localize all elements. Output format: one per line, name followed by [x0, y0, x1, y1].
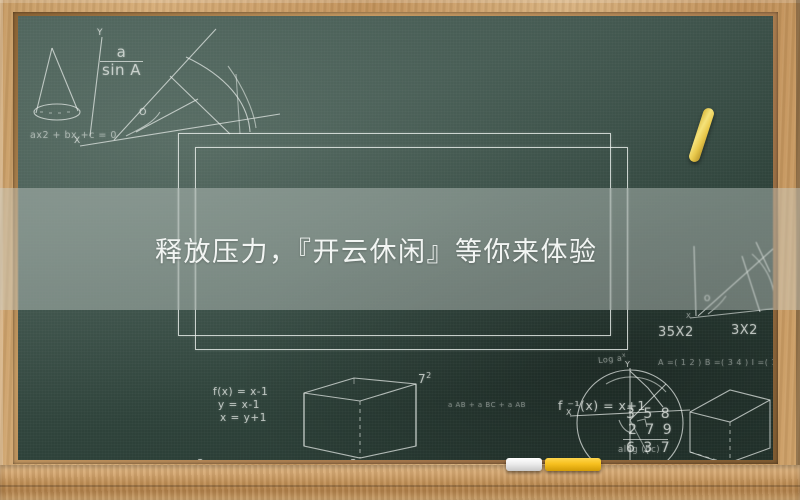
chalk-sum-row-2: 2 7 9: [628, 422, 674, 438]
page-title: 释放压力，『开云休闲』等你来体验: [0, 188, 800, 310]
chalk-label-y-axis-circle: Y: [625, 360, 630, 369]
chalk-sum-row-1: 3 5 8: [626, 406, 672, 422]
chalk-note-35x2: 35X2: [658, 326, 694, 341]
chalk-sum-row-3: 6 3 7: [626, 440, 672, 456]
chalk-note-fx-line3: x = y+1: [220, 412, 267, 424]
chalk-label-origin-left: O: [139, 108, 147, 119]
sine-numerator: a: [100, 44, 143, 62]
sine-left-numerator: a: [184, 456, 217, 460]
sine-denominator: sin A: [100, 62, 143, 79]
cube-drawing-right: [690, 390, 770, 460]
chalk-note-sine-left-bottom: a sin A: [184, 456, 217, 460]
eraser-icon: [506, 458, 542, 471]
chalk-note-seven-squared: 72: [418, 371, 432, 387]
ledge-yellow-chalk-icon: [545, 458, 601, 471]
chalk-note-sum-segments: a AB + a BC + a AB: [448, 401, 526, 409]
chalk-note-3x2: 3X2: [731, 324, 758, 339]
chalk-ledge: [0, 465, 800, 500]
chalk-note-fx-line1: f(x) = x-1: [213, 386, 268, 398]
chalk-label-x-axis-circle: X: [566, 408, 572, 417]
chalkboard-poster: a sin A ax2 + bx +c = 0 Y X O f(x) = x-1…: [0, 0, 800, 500]
chalk-label-x-axis-left: X: [74, 136, 81, 146]
seven-exponent: 2: [426, 371, 432, 380]
log-exponent: x: [622, 352, 627, 359]
chalk-note-sine-rule-topleft: a sin A: [100, 44, 143, 80]
cube-drawing-center: [304, 378, 416, 458]
chalk-label-y-axis-left: Y: [97, 28, 103, 38]
sine-center-numerator: a: [337, 456, 370, 460]
chalk-note-sine-center-bottom: a sin A: [337, 456, 370, 460]
chalk-note-fx-line2: y = x-1: [218, 399, 260, 411]
seven-base: 7: [418, 372, 426, 386]
cone-drawing: [34, 48, 80, 120]
chalk-note-matrices: A =( 1 2 ) B =( 3 4 ) I =( 1 0 ): [658, 358, 773, 367]
chalk-label-x-axis-right: X: [686, 312, 691, 320]
